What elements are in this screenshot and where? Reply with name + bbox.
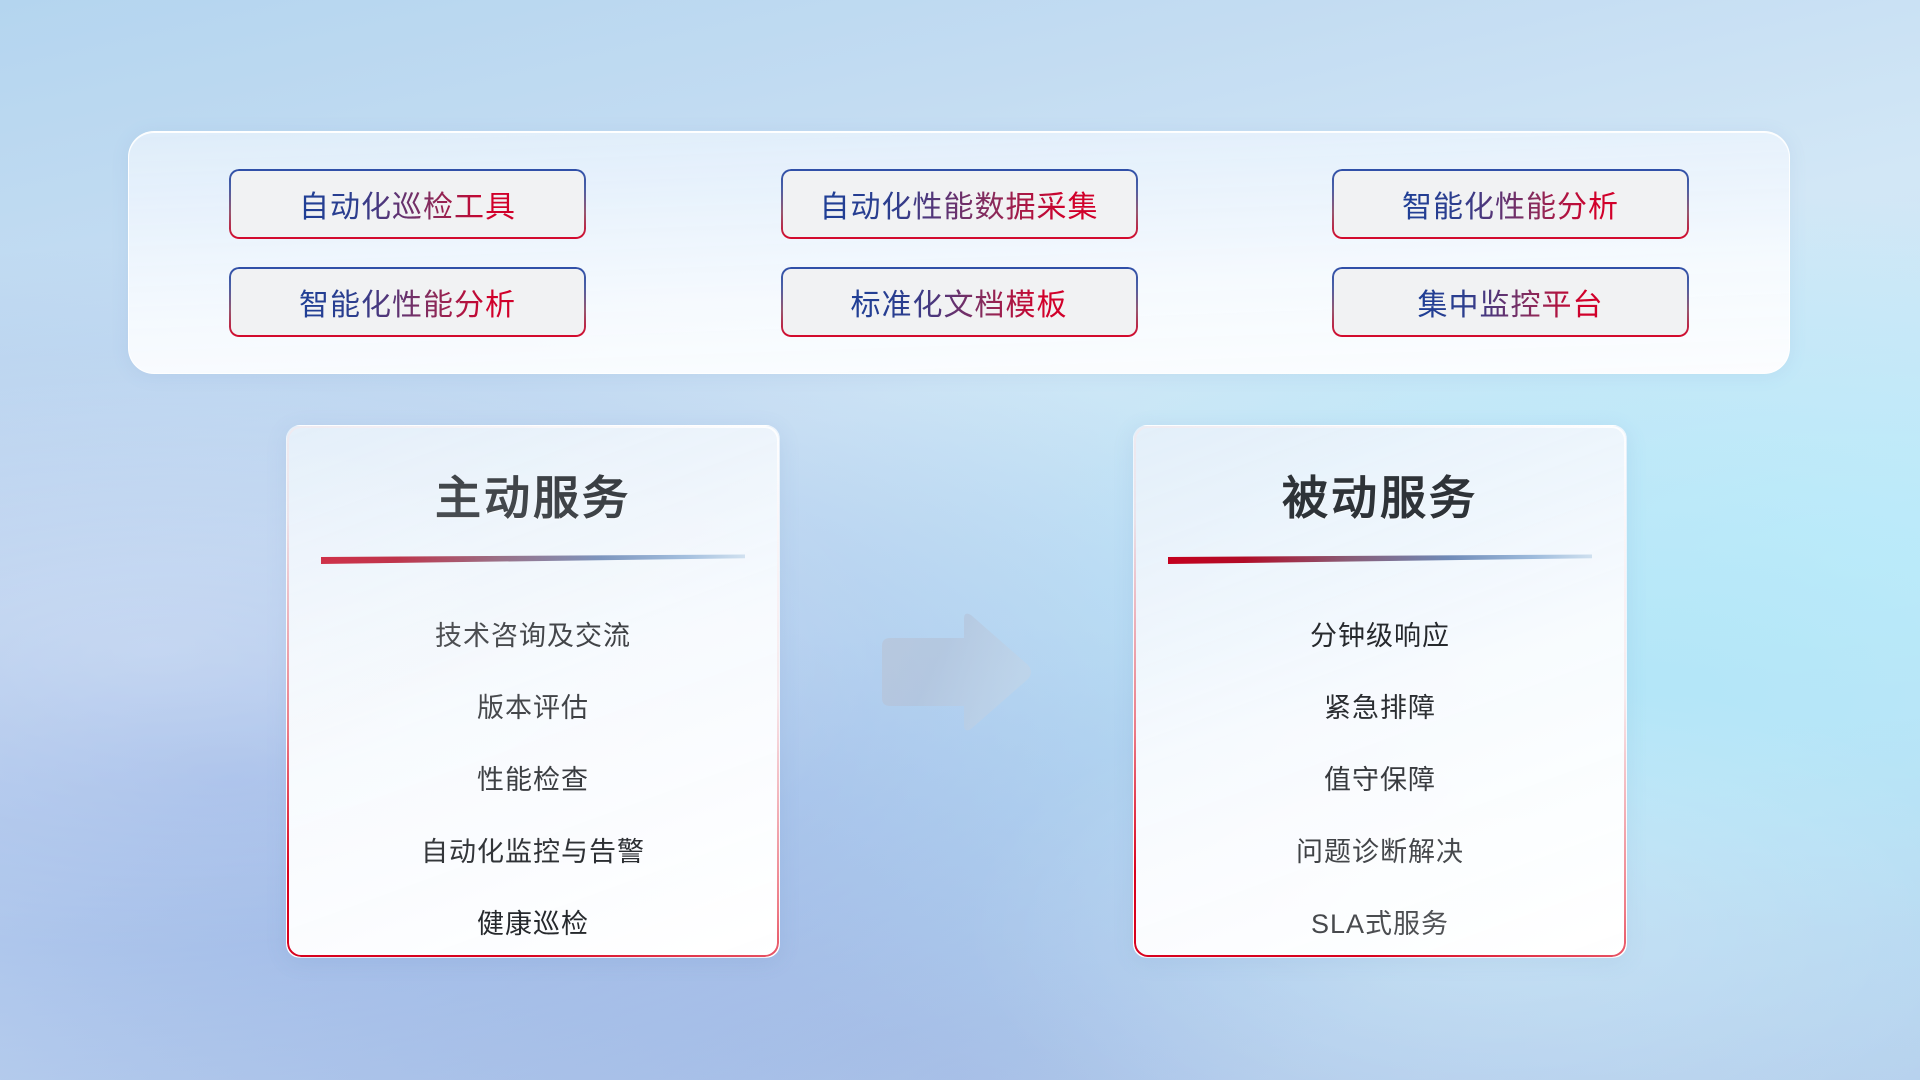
list-item: SLA式服务 <box>1311 888 1449 958</box>
capability-tag[interactable]: 标准化文档模板 <box>781 267 1138 337</box>
capability-tag-panel: 自动化巡检工具 自动化性能数据采集 智能化性能分析 智能化性能分析 标准化文档模… <box>128 131 1790 374</box>
capability-tag[interactable]: 自动化性能数据采集 <box>781 169 1138 239</box>
card-title: 被动服务 <box>1134 462 1626 528</box>
capability-tag-label: 智能化性能分析 <box>1402 182 1619 226</box>
list-item: 自动化监控与告警 <box>421 816 645 888</box>
tag-row-1: 自动化巡检工具 自动化性能数据采集 智能化性能分析 <box>229 169 1689 239</box>
arrow-right-icon <box>872 610 1034 734</box>
list-item: 紧急排障 <box>1324 672 1436 744</box>
list-item: 值守保障 <box>1324 744 1436 816</box>
list-item: 版本评估 <box>477 672 589 744</box>
service-card-reactive: 被动服务 分钟级响应 紧急排障 值守保障 <box>1133 425 1627 958</box>
capability-tag-label: 自动化巡检工具 <box>299 182 516 226</box>
card-title: 主动服务 <box>287 462 779 528</box>
list-item: 问题诊断解决 <box>1296 816 1464 888</box>
capability-tag[interactable]: 智能化性能分析 <box>1332 169 1689 239</box>
capability-tag-label: 智能化性能分析 <box>299 280 516 324</box>
card-divider <box>321 554 745 566</box>
service-item-list: 技术咨询及交流 版本评估 性能检查 自动化监控与告警 健康巡检 <box>287 600 779 958</box>
capability-tag[interactable]: 集中监控平台 <box>1332 267 1689 337</box>
capability-tag[interactable]: 自动化巡检工具 <box>229 169 586 239</box>
capability-tag[interactable]: 智能化性能分析 <box>229 267 586 337</box>
capability-tag-label: 标准化文档模板 <box>851 280 1068 324</box>
list-item: 技术咨询及交流 <box>435 600 631 672</box>
service-item-list: 分钟级响应 紧急排障 值守保障 问题诊断解决 SLA式服务 <box>1134 600 1626 958</box>
card-divider <box>1168 554 1592 566</box>
capability-tag-label: 集中监控平台 <box>1418 280 1604 324</box>
capability-tag-label: 自动化性能数据采集 <box>820 182 1099 226</box>
diagram-stage: 自动化巡检工具 自动化性能数据采集 智能化性能分析 智能化性能分析 标准化文档模… <box>0 0 1920 1080</box>
list-item: 分钟级响应 <box>1310 600 1450 672</box>
service-card-proactive: 主动服务 技术咨询及交流 版本评估 性能检查 <box>286 425 780 958</box>
list-item: 性能检查 <box>477 744 589 816</box>
tag-row-2: 智能化性能分析 标准化文档模板 集中监控平台 <box>229 267 1689 337</box>
list-item: 健康巡检 <box>477 888 589 958</box>
